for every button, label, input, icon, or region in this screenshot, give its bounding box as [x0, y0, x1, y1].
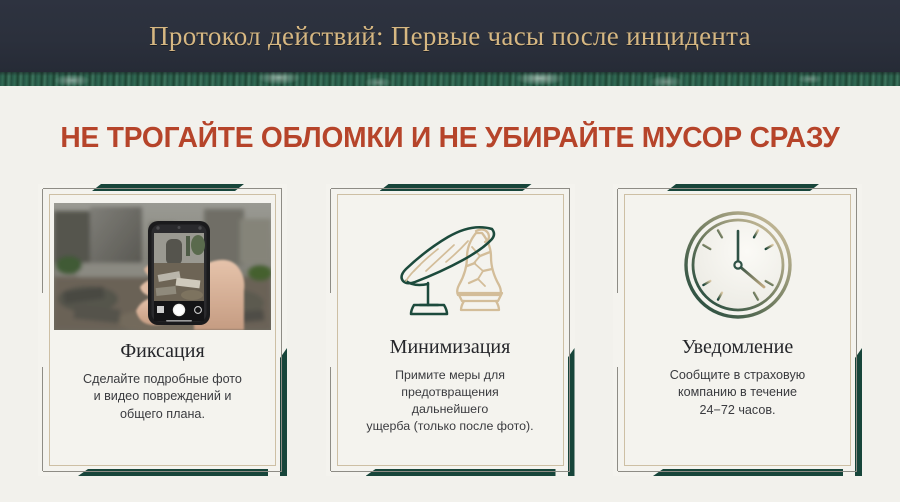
- cloth-covering-cracked-vase-icon: [342, 199, 559, 330]
- card-title: Уведомление: [682, 336, 793, 358]
- frame-left-segment-top: [617, 189, 618, 293]
- frame-left-segment-top: [42, 189, 43, 293]
- page-title: Протокол действий: Первые часы после инц…: [149, 21, 751, 52]
- hand-holding-phone-photographing-damaged-grave-photo: [54, 203, 271, 330]
- card-uvedomlenie[interactable]: Уведомление Сообщите в страховую компани…: [613, 184, 862, 476]
- frame-left-segment-bottom: [617, 367, 618, 471]
- foliage-strip: [0, 72, 900, 86]
- cards-row: Фиксация Сделайте подробные фото и видео…: [38, 184, 862, 476]
- card-text: Сделайте подробные фото и видео поврежде…: [83, 371, 242, 423]
- card-fiksaciya[interactable]: Фиксация Сделайте подробные фото и видео…: [38, 184, 287, 476]
- frame-left-segment-bottom: [330, 367, 331, 471]
- card-text: Примите меры для предотвращения дальнейш…: [366, 367, 533, 435]
- frame-left-segment-bottom: [42, 367, 43, 471]
- card-title: Фиксация: [120, 340, 204, 362]
- wall-clock-icon: [629, 199, 846, 330]
- card-body: Уведомление Сообщите в страховую компани…: [629, 199, 846, 461]
- card-body: Минимизация Примите меры для предотвраще…: [342, 199, 559, 461]
- slide: Протокол действий: Первые часы после инц…: [0, 0, 900, 502]
- card-text: Сообщите в страховую компанию в течение …: [670, 367, 805, 419]
- frame-left-segment-top: [330, 189, 331, 293]
- headline: НЕ ТРОГАЙТЕ ОБЛОМКИ И НЕ УБИРАЙТЕ МУСОР …: [14, 122, 887, 155]
- card-body: Фиксация Сделайте подробные фото и видео…: [54, 199, 271, 461]
- card-title: Минимизация: [390, 336, 511, 358]
- header-bar: Протокол действий: Первые часы после инц…: [0, 0, 900, 72]
- card-minimizaciya[interactable]: Минимизация Примите меры для предотвраще…: [326, 184, 575, 476]
